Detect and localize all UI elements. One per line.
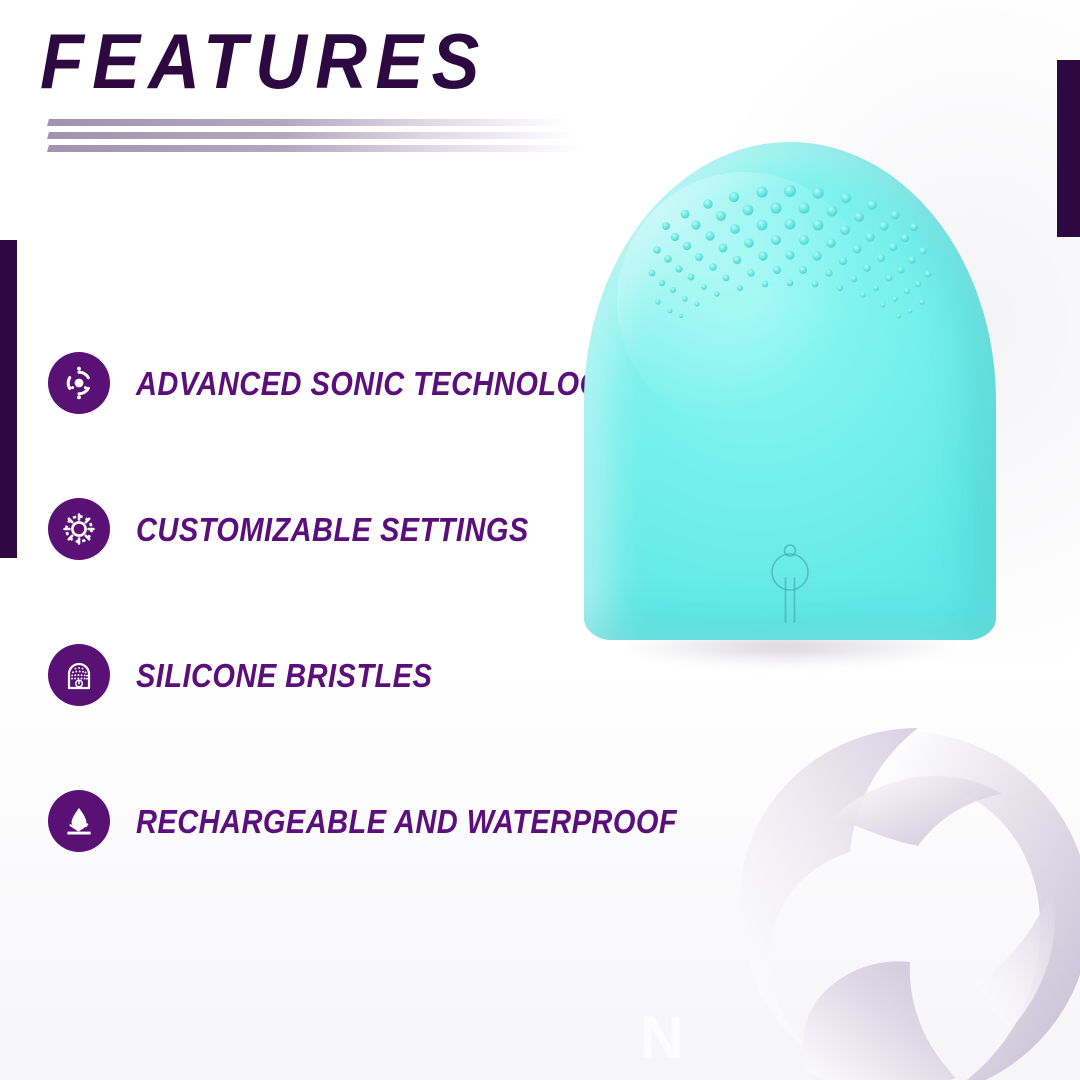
feature-label: CUSTOMIZABLE SETTINGS	[136, 513, 529, 546]
accent-bar-right	[1057, 60, 1080, 237]
title-rule-2	[47, 132, 577, 139]
watermark: N	[640, 1008, 687, 1068]
accent-bar-left	[0, 240, 17, 558]
page-title: FEATURES	[40, 22, 610, 100]
sonic-waves-icon	[48, 352, 110, 414]
water-repellent-drop-icon	[48, 790, 110, 852]
gear-icon	[48, 498, 110, 560]
feature-label: RECHARGEABLE AND WATERPROOF	[136, 805, 677, 838]
feature-item-rechargeable-and-waterproof: RECHARGEABLE AND WATERPROOF	[48, 790, 648, 852]
product-body	[584, 142, 996, 640]
product-image	[500, 120, 1060, 700]
silicone-bristles-texture	[584, 142, 996, 362]
feature-label: SILICONE BRISTLES	[136, 659, 432, 692]
page-title-block: FEATURES	[40, 22, 660, 100]
title-rule-1	[47, 119, 572, 126]
bristle-device-icon	[48, 644, 110, 706]
feature-infographic-canvas: FEATURES ADVANCED SONIC TEC	[0, 0, 1080, 1080]
power-button-emboss[interactable]	[762, 542, 818, 634]
abstract-ribbon-swirl	[680, 700, 1080, 1080]
